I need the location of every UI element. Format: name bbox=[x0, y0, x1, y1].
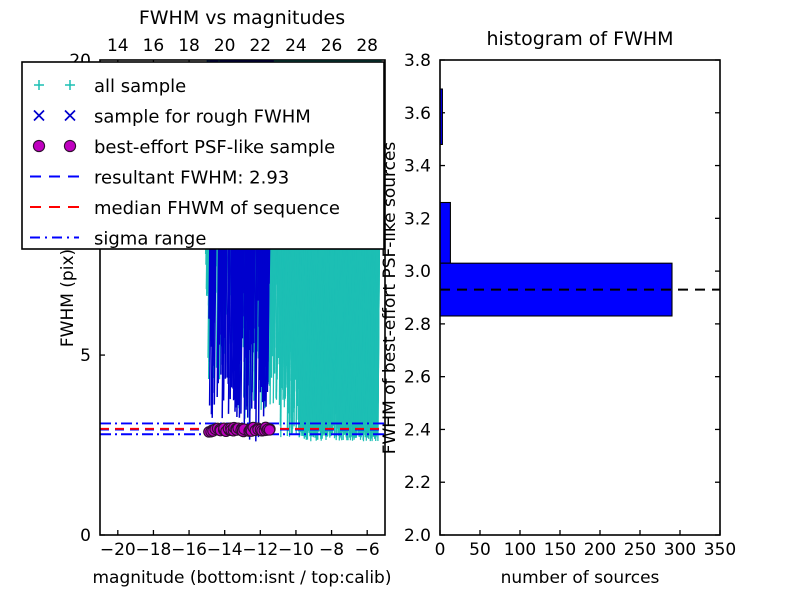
circle-marker bbox=[64, 140, 75, 151]
right-ytick-label: 2.0 bbox=[404, 526, 431, 546]
left-xtick-label: −18 bbox=[135, 540, 171, 560]
left-panel-ylabel: FWHM (pix) bbox=[58, 249, 78, 347]
left-xtick-label: −10 bbox=[278, 540, 314, 560]
left-xtick-label: −20 bbox=[100, 540, 136, 560]
circle-marker bbox=[33, 140, 44, 151]
right-ytick-label: 3.6 bbox=[404, 104, 431, 124]
left-top-xtick-label: 20 bbox=[214, 36, 236, 56]
legend-box: all samplesample for rough FWHMbest-effo… bbox=[22, 62, 384, 250]
left-ytick-label: 0 bbox=[80, 526, 91, 546]
left-xtick-label: −14 bbox=[207, 540, 243, 560]
right-xtick-label: 200 bbox=[584, 540, 616, 560]
right-ytick-label: 2.4 bbox=[404, 420, 431, 440]
legend-item-label: sigma range bbox=[94, 229, 206, 250]
right-ytick-label: 3.8 bbox=[404, 51, 431, 71]
right-panel-title: histogram of FWHM bbox=[486, 28, 673, 50]
figure-canvas: FWHM vs magnitudes 1416182022242628 −20−… bbox=[0, 0, 800, 600]
right-xtick-label: 300 bbox=[664, 540, 696, 560]
left-panel-title: FWHM vs magnitudes bbox=[139, 7, 345, 29]
right-ytick-label: 3.0 bbox=[404, 262, 431, 282]
left-top-xtick-label: 28 bbox=[356, 36, 378, 56]
right-ytick-label: 2.8 bbox=[404, 315, 431, 335]
right-panel-xlabel: number of sources bbox=[501, 568, 660, 588]
left-top-xtick-label: 18 bbox=[178, 36, 200, 56]
left-top-xtick-label: 24 bbox=[285, 36, 307, 56]
right-xtick-label: 150 bbox=[544, 540, 576, 560]
right-ytick-label: 3.4 bbox=[404, 157, 431, 177]
histogram-bar bbox=[440, 203, 450, 264]
right-xtick-label: 50 bbox=[469, 540, 491, 560]
legend-item-label: best-effort PSF-like sample bbox=[94, 137, 335, 158]
left-top-xtick-label: 26 bbox=[321, 36, 343, 56]
right-xtick-label: 0 bbox=[435, 540, 446, 560]
right-panel-x-tick-labels: 050100150200250300350 bbox=[435, 540, 737, 560]
right-xtick-label: 250 bbox=[624, 540, 656, 560]
circle-marker bbox=[264, 425, 274, 435]
right-ytick-label: 2.2 bbox=[404, 473, 431, 493]
right-ytick-label: 3.2 bbox=[404, 209, 431, 229]
left-xtick-label: −12 bbox=[242, 540, 278, 560]
left-top-xtick-label: 22 bbox=[249, 36, 271, 56]
left-xtick-label: −16 bbox=[171, 540, 207, 560]
left-top-xtick-label: 14 bbox=[107, 36, 129, 56]
right-xtick-label: 350 bbox=[704, 540, 736, 560]
left-xtick-label: −6 bbox=[355, 540, 380, 560]
legend-item-label: sample for rough FWHM bbox=[94, 107, 311, 128]
right-xtick-label: 100 bbox=[504, 540, 536, 560]
left-panel-bottom-tick-labels: −20−18−16−14−12−10−8−6 bbox=[100, 540, 380, 560]
legend-item-label: resultant FWHM: 2.93 bbox=[94, 168, 289, 189]
matplotlib-figure: FWHM vs magnitudes 1416182022242628 −20−… bbox=[0, 0, 800, 600]
left-xtick-label: −8 bbox=[319, 540, 344, 560]
legend-item-label: median FHWM of sequence bbox=[94, 198, 340, 219]
legend-item-label: all sample bbox=[94, 76, 186, 97]
right-ytick-label: 2.6 bbox=[404, 368, 431, 388]
left-top-xtick-label: 16 bbox=[143, 36, 165, 56]
left-ytick-label: 5 bbox=[80, 346, 91, 366]
left-panel-xlabel: magnitude (bottom:isnt / top:calib) bbox=[93, 568, 392, 588]
psf-like-points bbox=[204, 422, 275, 437]
